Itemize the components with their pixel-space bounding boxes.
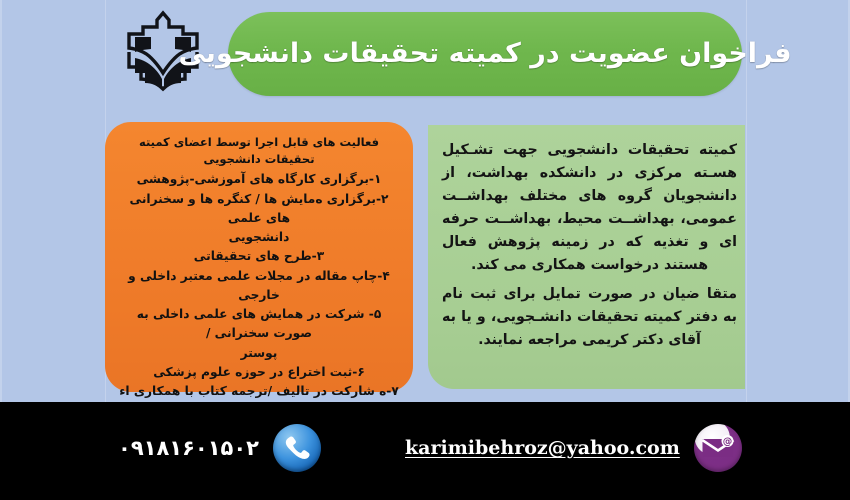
- activity-item: ۴-چاپ مقاله در مجلات علمی معتبر داخلی و …: [117, 267, 401, 306]
- title-banner: فراخوان عضویت در کمیته تحقیقات دانشجویی: [228, 12, 742, 96]
- page-title: فراخوان عضویت در کمیته تحقیقات دانشجویی: [178, 38, 791, 69]
- email-address: karimibehroz@yahoo.com: [405, 437, 680, 459]
- phone-number: ۰۹۱۸۱۶۰۱۵۰۲: [118, 436, 259, 460]
- email-contact[interactable]: @ karimibehroz@yahoo.com: [405, 424, 742, 472]
- activity-item: ۶-ثبت اختراع در حوزه علوم پزشکی: [117, 363, 401, 382]
- activity-item: ۵- شرکت در همایش های علمی داخلی به صورت …: [117, 305, 401, 344]
- description-paragraph-1: کمیته تحقیقات دانشجویی جهت تشـکیل هسـته …: [442, 139, 737, 277]
- envelope-at-icon: @: [694, 424, 742, 472]
- activity-item-cont: پوستر: [117, 344, 401, 363]
- contact-footer: ۰۹۱۸۱۶۰۱۵۰۲ @ karimibehroz@yahoo.com: [0, 402, 850, 500]
- description-panel: کمیته تحقیقات دانشجویی جهت تشـکیل هسـته …: [428, 125, 745, 389]
- activities-heading: فعالیت های قابل اجرا توسط اعضای کمیته تح…: [117, 134, 401, 167]
- phone-contact[interactable]: ۰۹۱۸۱۶۰۱۵۰۲: [118, 424, 321, 472]
- activity-item-cont: دانشجویی: [117, 228, 401, 247]
- poster-header: فراخوان عضویت در کمیته تحقیقات دانشجویی: [0, 0, 850, 110]
- poster-canvas: فراخوان عضویت در کمیته تحقیقات دانشجویی …: [0, 0, 850, 500]
- svg-text:@: @: [723, 437, 733, 448]
- activities-panel: فعالیت های قابل اجرا توسط اعضای کمیته تح…: [105, 122, 413, 392]
- activity-item: ۳-طرح های تحقیقاتی: [117, 247, 401, 266]
- activity-item: ۲-برگزاری ه‌مایش ها / کنگره ها و سخنرانی…: [117, 190, 401, 229]
- telephone-handset-icon: [273, 424, 321, 472]
- description-paragraph-2: متقا ضیان در صورت تمایل برای ثبت نام به …: [442, 283, 737, 352]
- activity-item: ۱-برگزاری کارگاه های آموزشی-پژوهشی: [117, 170, 401, 189]
